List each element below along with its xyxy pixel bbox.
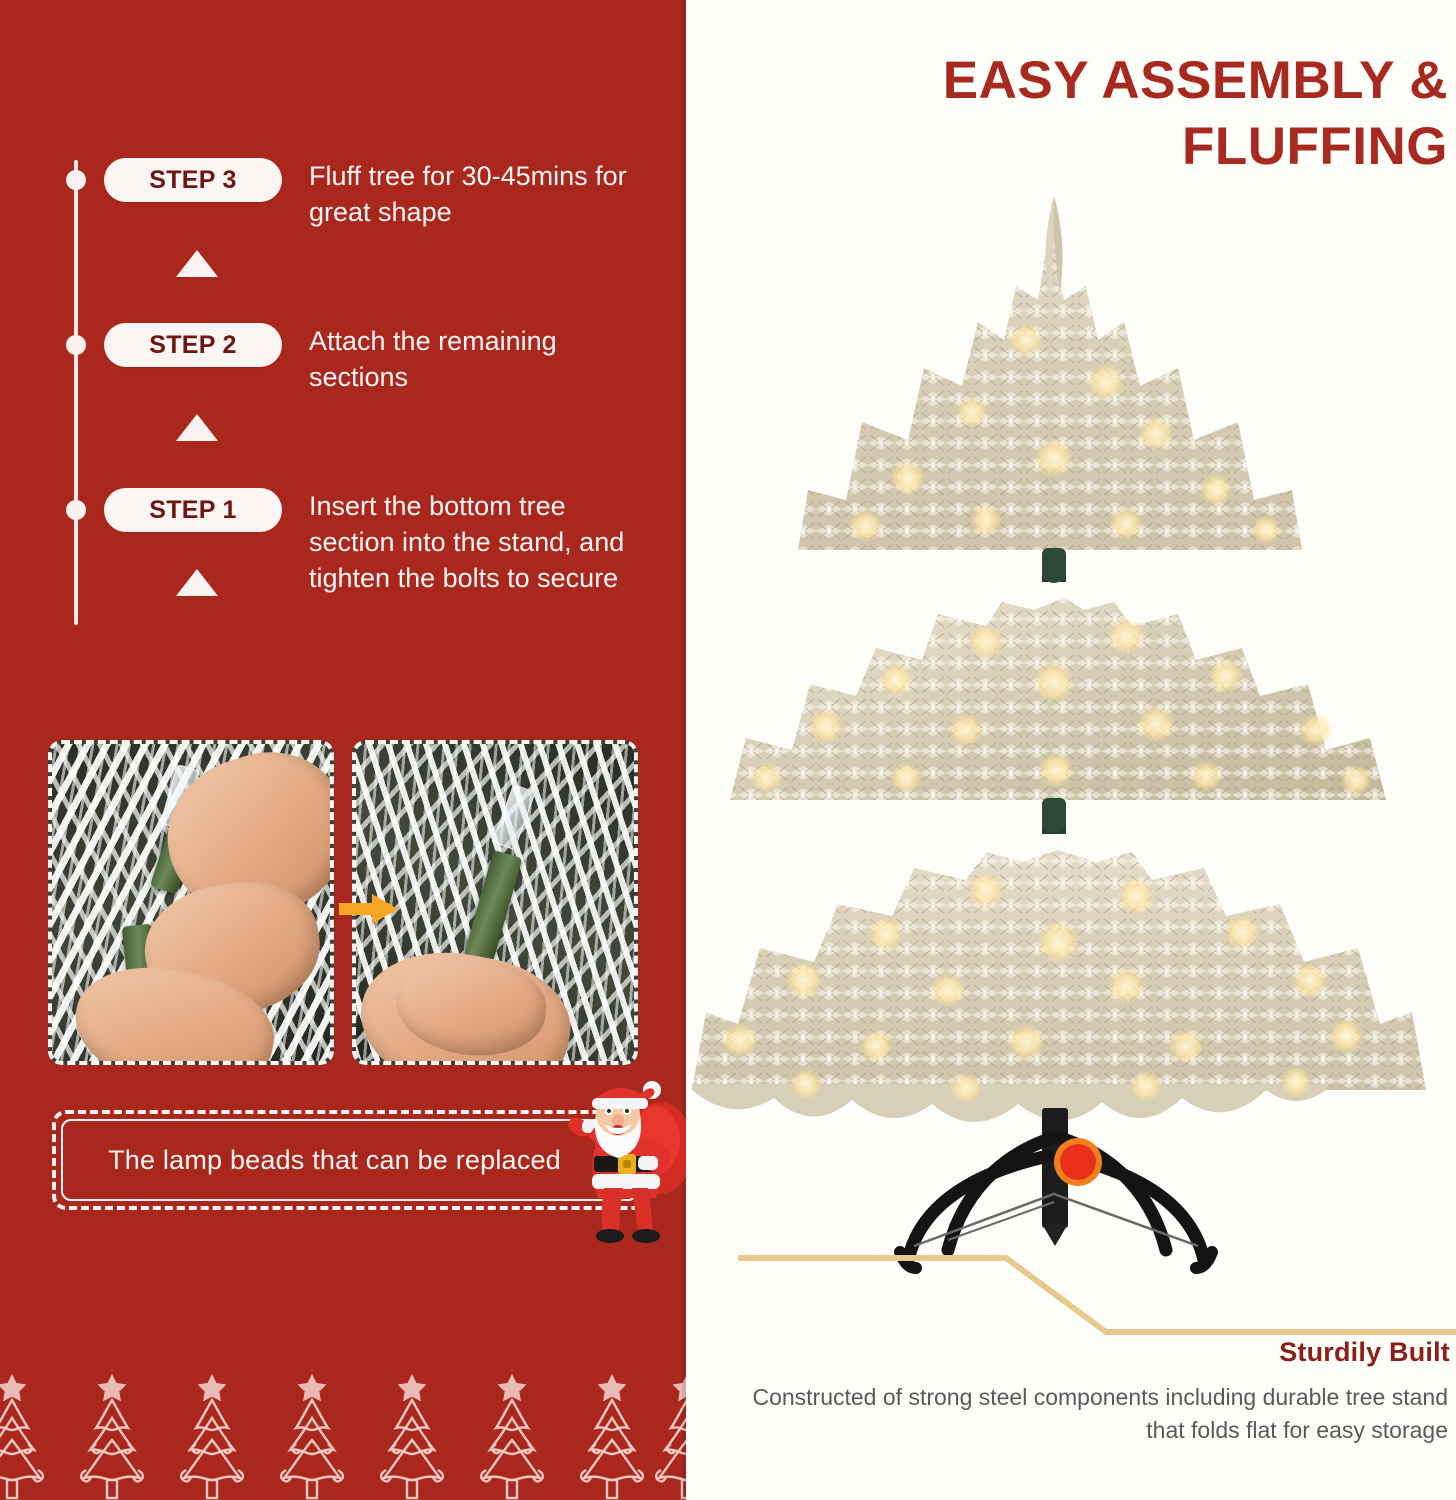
step-up-arrow-icon-1 <box>176 569 218 596</box>
tree-pole-connector <box>1042 798 1066 834</box>
page-title: EASY ASSEMBLY & FLUFFING <box>828 48 1448 180</box>
tree-pattern-svg <box>0 1372 686 1500</box>
step-up-arrow-icon-2 <box>176 414 218 441</box>
orange-right-arrow-icon <box>339 892 399 926</box>
middle-tree-section <box>730 598 1386 834</box>
christmas-tree-illustration <box>686 190 1456 1310</box>
lamp-bead-photo-remove <box>48 740 334 1065</box>
bottom-tree-section <box>692 850 1426 1122</box>
photo-image-remove <box>52 744 330 1061</box>
santa-claus-icon <box>552 1078 686 1250</box>
lamp-bead-photo-pair <box>48 740 638 1065</box>
tree-pole-connector <box>1042 548 1066 582</box>
lamp-beads-banner-label: The lamp beads that can be replaced <box>108 1145 591 1176</box>
christmas-tree-outline-pattern <box>0 1372 686 1500</box>
timeline-dot-step-1 <box>66 500 86 520</box>
step-badge-3: STEP 3 <box>104 158 282 202</box>
product-infographic: STEP 3 Fluff tree for 30-45mins for grea… <box>0 0 1456 1500</box>
step-text-3: Fluff tree for 30-45mins for great shape <box>309 158 649 230</box>
step-badge-2: STEP 2 <box>104 323 282 367</box>
assembly-steps-panel: STEP 3 Fluff tree for 30-45mins for grea… <box>0 0 686 1500</box>
page-title-line-1: EASY ASSEMBLY & <box>828 48 1448 114</box>
callout-label: Sturdily Built <box>1279 1337 1450 1368</box>
step-row-3: STEP 3 Fluff tree for 30-45mins for grea… <box>104 158 684 230</box>
step-up-arrow-icon-3 <box>176 250 218 277</box>
step-badge-1: STEP 1 <box>104 488 282 532</box>
timeline-rail <box>74 160 78 625</box>
product-showcase-panel: EASY ASSEMBLY & FLUFFING <box>686 0 1456 1500</box>
timeline-dot-step-2 <box>66 335 86 355</box>
top-tree-section <box>798 196 1302 583</box>
timeline-dot-step-3 <box>66 170 86 190</box>
callout-body: Constructed of strong steel components i… <box>708 1381 1448 1447</box>
step-row-2: STEP 2 Attach the remaining sections <box>104 323 684 395</box>
page-title-line-2: FLUFFING <box>828 114 1448 180</box>
step-text-1: Insert the bottom tree section into the … <box>309 488 649 596</box>
step-text-2: Attach the remaining sections <box>309 323 649 395</box>
